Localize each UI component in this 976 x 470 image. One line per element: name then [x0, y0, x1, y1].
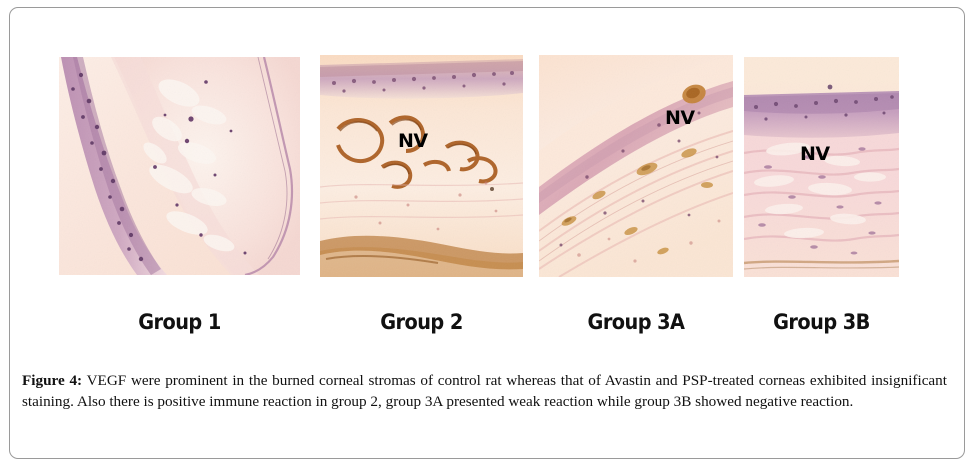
histology-image-group-1	[59, 57, 300, 275]
group-label-2: Group 2	[328, 310, 515, 334]
micrograph-panel-strip: NV	[10, 8, 964, 293]
figure-frame: NV	[9, 7, 965, 459]
nv-annotation-group-3a: NV	[665, 109, 695, 128]
micrograph-panel-group-3b[interactable]: NV	[744, 57, 899, 277]
micrograph-panel-group-3a[interactable]: NV	[539, 55, 733, 277]
figure-caption-label: Figure 4:	[22, 372, 82, 389]
figure-caption-text: VEGF were prominent in the burned cornea…	[22, 372, 947, 410]
group-label-row: Group 1 Group 2 Group 3A Group 3B	[10, 296, 964, 348]
micrograph-panel-group-2[interactable]: NV	[320, 55, 523, 277]
histology-image-group-3a	[539, 55, 733, 277]
micrograph-panel-group-1[interactable]	[59, 57, 300, 275]
figure-caption: Figure 4: VEGF were prominent in the bur…	[22, 370, 947, 412]
histology-image-group-3b	[744, 57, 899, 277]
group-label-1: Group 1	[69, 310, 291, 334]
group-label-3a: Group 3A	[547, 310, 725, 334]
histology-image-group-2	[320, 55, 523, 277]
nv-annotation-group-3b: NV	[800, 145, 830, 164]
nv-annotation-group-2: NV	[398, 132, 428, 151]
group-label-3b: Group 3B	[750, 310, 893, 334]
